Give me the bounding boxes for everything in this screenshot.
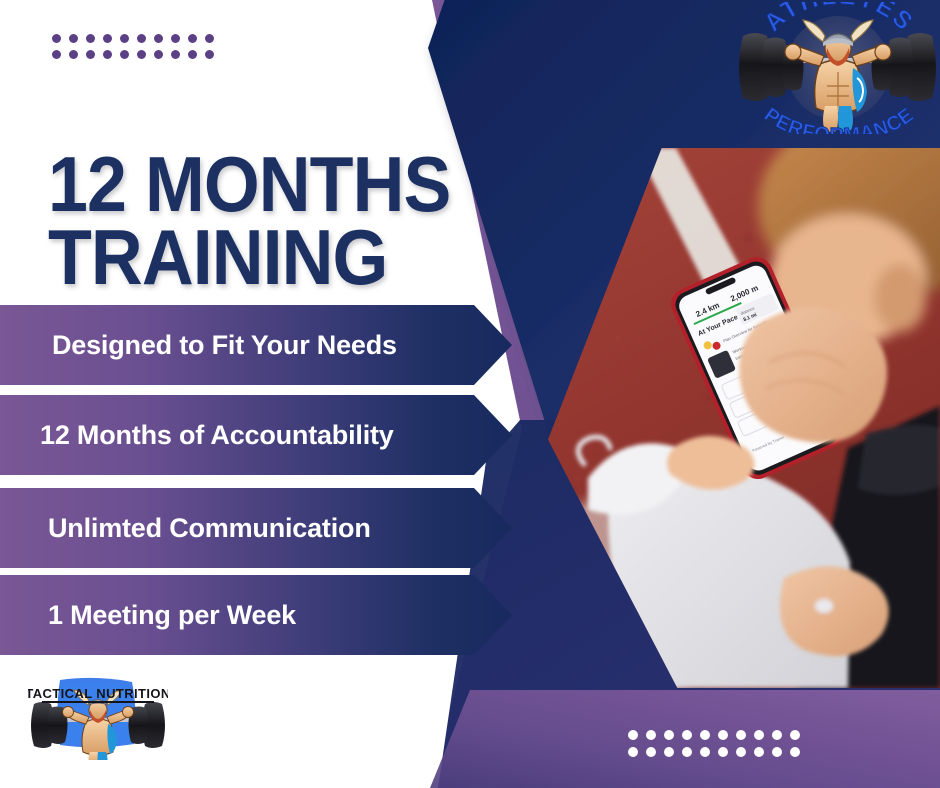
dot xyxy=(69,34,78,43)
feature-banner-months-of-accountability[interactable]: 12 Months of Accountability xyxy=(0,395,512,475)
feature-banner-unlimited-communication[interactable]: Unlimted Communication xyxy=(0,488,512,568)
dot xyxy=(171,34,180,43)
feature-banner-label: 12 Months of Accountability xyxy=(40,420,394,451)
dot xyxy=(718,730,728,740)
dot xyxy=(103,34,112,43)
dot xyxy=(137,34,146,43)
feature-banner-label: 1 Meeting per Week xyxy=(48,600,296,631)
dot xyxy=(754,730,764,740)
headline-line-1: 12 MONTHS xyxy=(48,148,450,221)
dot xyxy=(754,747,764,757)
dot xyxy=(69,50,78,59)
promo-poster: 2.4 km 2,000 m At Your Pace distance 8.1… xyxy=(0,0,940,788)
dot xyxy=(790,747,800,757)
feature-banner-label: Unlimted Communication xyxy=(48,513,371,544)
dot xyxy=(86,34,95,43)
dot xyxy=(154,50,163,59)
dot xyxy=(646,730,656,740)
dot xyxy=(664,730,674,740)
dot xyxy=(790,730,800,740)
dot xyxy=(120,50,129,59)
dot xyxy=(154,34,163,43)
feature-banner-meeting-per-week[interactable]: 1 Meeting per Week xyxy=(0,575,512,655)
athletes-performance-logo[interactable]: ATHLETES PERFORMANCE xyxy=(735,2,940,134)
dot xyxy=(736,730,746,740)
dot xyxy=(772,730,782,740)
dot xyxy=(700,747,710,757)
dot xyxy=(103,50,112,59)
dot xyxy=(52,34,61,43)
dot-grid-bottom-right xyxy=(628,730,790,757)
logo-word-tactical-nutrition: TACTICAL NUTRITION xyxy=(28,686,168,701)
feature-banner-designed-to-fit-your-needs[interactable]: Designed to Fit Your Needs xyxy=(0,305,512,385)
dot xyxy=(736,747,746,757)
dot xyxy=(137,50,146,59)
dot xyxy=(646,747,656,757)
dot xyxy=(682,730,692,740)
dot xyxy=(205,50,214,59)
dot xyxy=(628,730,638,740)
dot xyxy=(718,747,728,757)
dot xyxy=(205,34,214,43)
dot xyxy=(86,50,95,59)
feature-banner-label: Designed to Fit Your Needs xyxy=(52,330,397,361)
dot xyxy=(700,730,710,740)
dot xyxy=(664,747,674,757)
dot xyxy=(120,34,129,43)
dot xyxy=(628,747,638,757)
page-title: 12 MONTHSTRAINING xyxy=(48,148,450,293)
dot xyxy=(682,747,692,757)
dot-grid-top-left xyxy=(52,34,212,59)
tactical-nutrition-logo[interactable]: TACTICAL NUTRITION xyxy=(28,668,168,760)
headline-line-2: TRAINING xyxy=(48,221,450,294)
dot xyxy=(772,747,782,757)
dot xyxy=(188,34,197,43)
dot xyxy=(52,50,61,59)
dot xyxy=(188,50,197,59)
dot xyxy=(171,50,180,59)
